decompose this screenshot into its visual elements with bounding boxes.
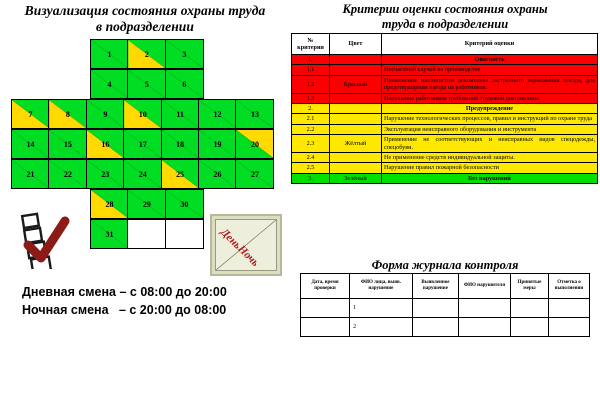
criteria-section-row: 2.Предупреждение: [292, 104, 598, 114]
left-title-line-1: Визуализация состояния охраны труда: [0, 3, 290, 19]
form-entry-cell[interactable]: [412, 299, 458, 318]
calendar-day-number: 7: [12, 100, 49, 128]
criteria-color-cell: [330, 163, 382, 173]
criteria-color-cell: Жёлтый: [330, 135, 382, 153]
calendar-day-cell[interactable]: 4: [90, 69, 129, 99]
criteria-number-cell: 1.: [292, 55, 330, 65]
criteria-color-cell: [330, 104, 382, 114]
calendar-day-cell[interactable]: 22: [48, 159, 87, 189]
calendar-day-cell[interactable]: 11: [161, 99, 200, 129]
left-panel-title: Визуализация состояния охраны труда в по…: [0, 3, 290, 35]
form-entry-cell[interactable]: [510, 299, 548, 318]
criteria-header-row: № критерия Цвет Критерий оценки: [292, 34, 598, 55]
criteria-text-cell: Опасность: [382, 55, 598, 65]
calendar-day-cell[interactable]: 20: [235, 129, 274, 159]
calendar-day-number: 26: [199, 160, 236, 188]
right-title-line-1: Критерии оценки состояния охраны: [290, 2, 600, 17]
control-log-form-table: Дата, время проверкиФИО лица, выяв. нару…: [300, 273, 590, 337]
calendar-day-number: 25: [162, 160, 199, 188]
criteria-color-cell: [330, 114, 382, 124]
criteria-header-criterion: Критерий оценки: [382, 34, 598, 55]
calendar-row: 21222324252627: [11, 159, 288, 189]
calendar-day-cell[interactable]: 19: [198, 129, 237, 159]
calendar-day-number: 21: [12, 160, 49, 188]
right-title-line-2: труда в подразделении: [290, 17, 600, 32]
calendar-day-number: 20: [236, 130, 273, 158]
criteria-number-cell: 2.: [292, 104, 330, 114]
calendar-day-cell[interactable]: 13: [235, 99, 274, 129]
calendar-day-number: 30: [166, 190, 203, 218]
calendar-day-cell[interactable]: 30: [165, 189, 204, 219]
calendar-day-cell[interactable]: 27: [235, 159, 274, 189]
criteria-number-cell: 3.: [292, 173, 330, 183]
criteria-text-cell: Не применение средств индивидуальной защ…: [382, 153, 598, 163]
calendar-day-number: 6: [166, 70, 203, 98]
form-entry-cell[interactable]: [459, 318, 511, 337]
criteria-panel: Критерии оценки состояния охраны труда в…: [290, 0, 600, 400]
form-entry-cell[interactable]: [301, 299, 350, 318]
calendar-day-cell[interactable]: 26: [198, 159, 237, 189]
calendar-day-number: 19: [199, 130, 236, 158]
form-entry-cell[interactable]: [301, 318, 350, 337]
calendar-day-cell[interactable]: 16: [86, 129, 125, 159]
calendar-day-number: 28: [91, 190, 128, 218]
calendar-day-number: 29: [128, 190, 165, 218]
calendar-day-cell[interactable]: 5: [127, 69, 166, 99]
calendar-day-cell[interactable]: 6: [165, 69, 204, 99]
calendar-day-number: 10: [124, 100, 161, 128]
calendar-day-number: 12: [199, 100, 236, 128]
criteria-color-cell: Красный: [330, 75, 382, 93]
calendar-day-number: 3: [166, 40, 203, 68]
calendar-day-cell[interactable]: 9: [86, 99, 125, 129]
calendar-day-number: 9: [87, 100, 124, 128]
form-entry-cell[interactable]: [549, 299, 590, 318]
form-entry-cell[interactable]: [459, 299, 511, 318]
criteria-header-number: № критерия: [292, 34, 330, 55]
criteria-text-cell: Нарушение правил пожарной безопасности: [382, 163, 598, 173]
calendar-day-number: 24: [124, 160, 161, 188]
criteria-number-cell: 2.1: [292, 114, 330, 124]
calendar-day-number: 16: [87, 130, 124, 158]
criteria-text-cell: Применение машинистом локомотива экстрен…: [382, 75, 598, 93]
criteria-number-cell: 1.1: [292, 65, 330, 75]
calendar-day-cell[interactable]: 10: [123, 99, 162, 129]
calendar-day-cell[interactable]: 24: [123, 159, 162, 189]
criteria-section-row: 3.ЗелёныйБез нарушений: [292, 173, 598, 183]
calendar-day-number: 8: [49, 100, 86, 128]
calendar-day-cell[interactable]: 18: [161, 129, 200, 159]
calendar-day-cell[interactable]: 1: [90, 39, 129, 69]
criteria-table: № критерия Цвет Критерий оценки 1.Опасно…: [291, 33, 598, 184]
form-entry-row[interactable]: 2: [301, 318, 590, 337]
form-header-row: Дата, время проверкиФИО лица, выяв. нару…: [301, 274, 590, 299]
criteria-item-row: 2.5Нарушение правил пожарной безопасност…: [292, 163, 598, 173]
calendar-day-cell[interactable]: 14: [11, 129, 50, 159]
criteria-number-cell: 2.3: [292, 135, 330, 153]
criteria-color-cell: [330, 55, 382, 65]
criteria-number-cell: 2.2: [292, 124, 330, 134]
form-title: Форма журнала контроля: [290, 258, 600, 273]
criteria-item-row: 2.1Нарушение технологических процессов, …: [292, 114, 598, 124]
calendar-day-number: 15: [49, 130, 86, 158]
calendar-day-cell[interactable]: 28: [90, 189, 129, 219]
criteria-item-row: 2.3ЖёлтыйПрименение не соответствующих и…: [292, 135, 598, 153]
calendar-day-number: 2: [128, 40, 165, 68]
form-header-cell: Выявленное нарушение: [412, 274, 458, 299]
criteria-item-row: 1.3Нарушение работником требований трудо…: [292, 93, 598, 103]
calendar-cell-empty: [127, 219, 166, 249]
calendar-day-cell[interactable]: 2: [127, 39, 166, 69]
calendar-day-number: 18: [162, 130, 199, 158]
criteria-section-row: 1.Опасность: [292, 55, 598, 65]
calendar-day-cell[interactable]: 17: [123, 129, 162, 159]
legend-inner: День Ночь: [215, 219, 277, 271]
criteria-text-cell: Предупреждение: [382, 104, 598, 114]
form-entry-row[interactable]: 1: [301, 299, 590, 318]
criteria-number-cell: 2.4: [292, 153, 330, 163]
criteria-text-cell: Без нарушений: [382, 173, 598, 183]
calendar-row: 78910111213: [11, 99, 288, 129]
day-night-legend: День Ночь: [210, 214, 282, 276]
calendar-day-number: 23: [87, 160, 124, 188]
right-panel-title: Критерии оценки состояния охраны труда в…: [290, 2, 600, 32]
night-shift-hours: Ночная смена – с 20:00 до 08:00: [22, 301, 290, 319]
criteria-item-row: 1.1Несчастный случай на производстве: [292, 65, 598, 75]
checklist-icon: [17, 207, 87, 269]
criteria-color-cell: [330, 124, 382, 134]
form-entry-cell[interactable]: [510, 318, 548, 337]
calendar-day-cell[interactable]: 29: [127, 189, 166, 219]
criteria-color-cell: Зелёный: [330, 173, 382, 183]
visualization-panel: Визуализация состояния охраны труда в по…: [0, 0, 290, 400]
calendar-day-number: 27: [236, 160, 273, 188]
form-row-number[interactable]: 2: [350, 318, 413, 337]
calendar-day-cell[interactable]: 21: [11, 159, 50, 189]
form-entry-cell[interactable]: [412, 318, 458, 337]
calendar-day-cell[interactable]: 23: [86, 159, 125, 189]
slide-root: Визуализация состояния охраны труда в по…: [0, 0, 600, 400]
calendar-row: 456: [90, 69, 288, 99]
criteria-item-row: 1.2КрасныйПрименение машинистом локомоти…: [292, 75, 598, 93]
calendar-day-number: 11: [162, 100, 199, 128]
criteria-number-cell: 2.5: [292, 163, 330, 173]
criteria-text-cell: Применение не соответствующих и неисправ…: [382, 135, 598, 153]
criteria-item-row: 2.2Эксплуатация неисправного оборудовани…: [292, 124, 598, 134]
criteria-number-cell: 1.3: [292, 93, 330, 103]
calendar-cell-empty: [165, 219, 204, 249]
calendar-day-number: 22: [49, 160, 86, 188]
form-header-cell: ФИО нарушителя: [459, 274, 511, 299]
calendar-day-cell[interactable]: 25: [161, 159, 200, 189]
form-header-cell: Дата, время проверки: [301, 274, 350, 299]
criteria-text-cell: Нарушение работником требований трудовой…: [382, 93, 598, 103]
calendar-day-number: 5: [128, 70, 165, 98]
form-entry-cell[interactable]: [549, 318, 590, 337]
criteria-color-cell: [330, 93, 382, 103]
day-shift-hours: Дневная смена – с 08:00 до 20:00: [22, 283, 290, 301]
calendar-day-cell[interactable]: 12: [198, 99, 237, 129]
calendar-day-cell[interactable]: 7: [11, 99, 50, 129]
form-header-cell: Принятые меры: [510, 274, 548, 299]
criteria-text-cell: Нарушение технологических процессов, пра…: [382, 114, 598, 124]
calendar-day-number: 13: [236, 100, 273, 128]
shift-hours-block: Дневная смена – с 08:00 до 20:00 Ночная …: [22, 283, 290, 319]
criteria-color-cell: [330, 153, 382, 163]
criteria-color-cell: [330, 65, 382, 75]
calendar-day-cell[interactable]: 15: [48, 129, 87, 159]
calendar-row: 14151617181920: [11, 129, 288, 159]
form-row-number[interactable]: 1: [350, 299, 413, 318]
criteria-text-cell: Несчастный случай на производстве: [382, 65, 598, 75]
calendar-day-number: 14: [12, 130, 49, 158]
calendar-day-cell[interactable]: 3: [165, 39, 204, 69]
left-title-line-2: в подразделении: [0, 19, 290, 35]
criteria-text-cell: Эксплуатация неисправного оборудования и…: [382, 124, 598, 134]
calendar-day-number: 1: [91, 40, 128, 68]
calendar-row: 123: [90, 39, 288, 69]
calendar-day-cell[interactable]: 31: [90, 219, 129, 249]
form-header-cell: ФИО лица, выяв. нарушение: [350, 274, 413, 299]
calendar-day-number: 17: [124, 130, 161, 158]
criteria-number-cell: 1.2: [292, 75, 330, 93]
criteria-header-color: Цвет: [330, 34, 382, 55]
calendar-day-number: 4: [91, 70, 128, 98]
form-header-cell: Отметка о выполнении: [549, 274, 590, 299]
calendar-day-cell[interactable]: 8: [48, 99, 87, 129]
calendar-day-number: 31: [91, 220, 128, 248]
criteria-item-row: 2.4Не применение средств индивидуальной …: [292, 153, 598, 163]
